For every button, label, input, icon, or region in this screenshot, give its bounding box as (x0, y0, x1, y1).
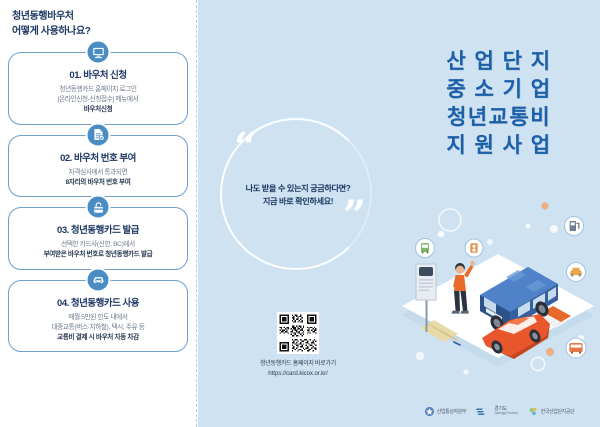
sponsor-logos: 산업통상자원부 경기도 Gyeonggi Province (398, 406, 600, 417)
logo-gyeonggi-sub: Gyeonggi Province (494, 412, 518, 416)
left-panel-title: 청년동행바우처 어떻게 사용하나요? (12, 10, 188, 39)
left-panel-how-to-use: 청년동행바우처 어떻게 사용하나요? 01. 바우처 신청 청년동행카드 홈페이… (0, 0, 196, 427)
qr-block[interactable]: 청년동행카드 홈페이지 바로가기 https://card.kicox.or.k… (198, 312, 398, 379)
step-card-01: 01. 바우처 신청 청년동행카드 홈페이지 로그인 [온라인신청-신청접수] … (8, 52, 188, 125)
step-line-04-2: 대중교통(버스·지하철), 택시, 주유 등 (15, 323, 181, 333)
step-line-03-2: 부여받은 바우처 번호로 청년동행카드 발급 (15, 250, 181, 260)
step-line-04-1: 매월 5만원 한도 내에서 (15, 313, 181, 323)
main-title-line-3: 청년교통비 (398, 104, 600, 132)
page-title: 산 업 단 지 중 소 기 업 청년교통비 지 원 사 업 (398, 48, 600, 160)
panel-divider (196, 0, 198, 427)
qr-code-icon[interactable] (277, 312, 319, 354)
logo-motie-label: 산업통상자원부 (437, 408, 466, 415)
step-line-04-3: 교통비 결제 시 바우처 자동 차감 (15, 333, 181, 343)
government-emblem-icon (424, 406, 435, 417)
callout-text: 나도 받을 수 있는지 궁금하다면? 지금 바로 확인하세요! (198, 182, 398, 208)
left-title-line-2: 어떻게 사용하나요? (12, 25, 188, 40)
quote-open-icon: “ (234, 128, 259, 168)
step-card-04: 04. 청년동행카드 사용 매월 5만원 한도 내에서 대중교통(버스·지하철)… (8, 280, 188, 353)
card-icon (86, 195, 111, 220)
car-icon (86, 267, 111, 292)
logo-kicox-label: 한국산업단지공단 (541, 408, 575, 415)
monitor-icon (86, 40, 111, 65)
step-line-01-3: 바우처신청 (15, 105, 181, 115)
qr-url-link[interactable]: https://card.kicox.or.kr/ (198, 369, 398, 379)
step-line-03-1: 선택한 카드사(신한, BC)에서 (15, 240, 181, 250)
fuel-badge-icon (565, 217, 584, 236)
document-check-icon (86, 122, 111, 147)
main-title-line-1: 산 업 단 지 (398, 48, 600, 76)
step-card-02: 02. 바우처 번호 부여 자격심사에서 통과되면 8자리의 바우처 번호 부여 (8, 135, 188, 197)
callout-line-1: 나도 받을 수 있는지 궁금하다면? (198, 182, 398, 195)
main-title-line-4: 지 원 사 업 (398, 132, 600, 160)
logo-gyeonggi: 경기도 Gyeonggi Province (476, 407, 518, 416)
step-line-01-2: [온라인신청-신청접수] 메뉴에서 (15, 95, 181, 105)
poster-root: 청년동행바우처 어떻게 사용하나요? 01. 바우처 신청 청년동행카드 홈페이… (0, 0, 600, 427)
step-line-02-1: 자격심사에서 통과되면 (15, 168, 181, 178)
center-panel-callout: “ ” 나도 받을 수 있는지 궁금하다면? 지금 바로 확인하세요! (198, 0, 398, 427)
qr-caption: 청년동행카드 홈페이지 바로가기 (198, 360, 398, 369)
kicox-logo-icon (528, 406, 539, 417)
step-line-01-1: 청년동행카드 홈페이지 로그인 (15, 85, 181, 95)
main-title-line-2: 중 소 기 업 (398, 76, 600, 104)
isometric-transport-illustration (398, 196, 600, 386)
step-heading-01: 01. 바우처 신청 (15, 67, 181, 81)
gyeonggi-logo-icon (476, 407, 492, 416)
right-panel-hero: 산 업 단 지 중 소 기 업 청년교통비 지 원 사 업 (398, 0, 600, 427)
step-heading-02: 02. 바우처 번호 부여 (15, 150, 181, 164)
card-badge-icon (465, 239, 483, 257)
logo-motie: 산업통상자원부 (424, 406, 466, 417)
taxi-badge-icon (567, 263, 586, 282)
logo-kicox: 한국산업단지공단 (528, 406, 575, 417)
left-title-line-1: 청년동행바우처 (12, 10, 188, 25)
step-heading-04: 04. 청년동행카드 사용 (15, 295, 181, 309)
callout-line-2: 지금 바로 확인하세요! (198, 195, 398, 208)
step-line-02-2: 8자리의 바우처 번호 부여 (15, 178, 181, 188)
bus-badge-icon (416, 239, 435, 258)
train-badge-icon (566, 338, 586, 358)
steps-list: 01. 바우처 신청 청년동행카드 홈페이지 로그인 [온라인신청-신청접수] … (8, 52, 188, 362)
step-card-03: 03. 청년동행카드 발급 선택한 카드사(신한, BC)에서 부여받은 바우처… (8, 207, 188, 269)
step-heading-03: 03. 청년동행카드 발급 (15, 222, 181, 236)
